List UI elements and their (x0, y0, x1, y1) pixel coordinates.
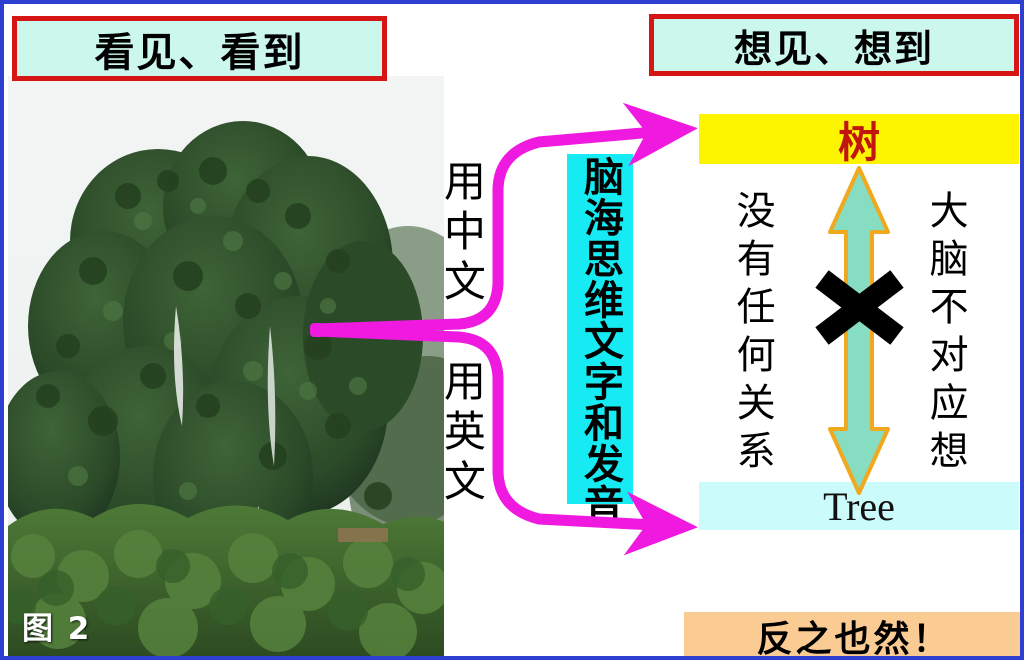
figure-caption: 图 2 (22, 603, 91, 648)
tree-english-box: Tree (699, 482, 1019, 530)
tree-english-word: Tree (823, 483, 895, 530)
bidirectional-link-arrow (830, 168, 888, 493)
header-think: 想见、想到 (649, 14, 1019, 76)
cross-out-mark (822, 279, 897, 336)
tree-chinese-box: 树 (699, 114, 1019, 164)
brain-thought-column: 脑海思维文字和发音 (567, 154, 633, 504)
photo-illustration (8, 76, 444, 660)
tree-chinese-word: 树 (838, 109, 880, 170)
label-no-relation: 没有任何关系 (731, 190, 773, 478)
tree-photograph: 图 2 (8, 76, 444, 660)
label-use-chinese: 用中文 (439, 159, 484, 309)
slide-canvas: 图 2 看见、看到 想见、想到 用中文 用英文 脑海思维文字和发音 树 没有任何… (0, 0, 1024, 660)
brain-thought-text: 脑海思维文字和发音 (580, 154, 620, 525)
header-see: 看见、看到 (12, 16, 387, 81)
conclusion-text: 反之也然！ (756, 610, 951, 660)
label-brain-no-mapping: 大脑不对应想 (924, 190, 966, 478)
conclusion-box: 反之也然！ (684, 612, 1024, 660)
label-use-english: 用英文 (439, 359, 484, 509)
